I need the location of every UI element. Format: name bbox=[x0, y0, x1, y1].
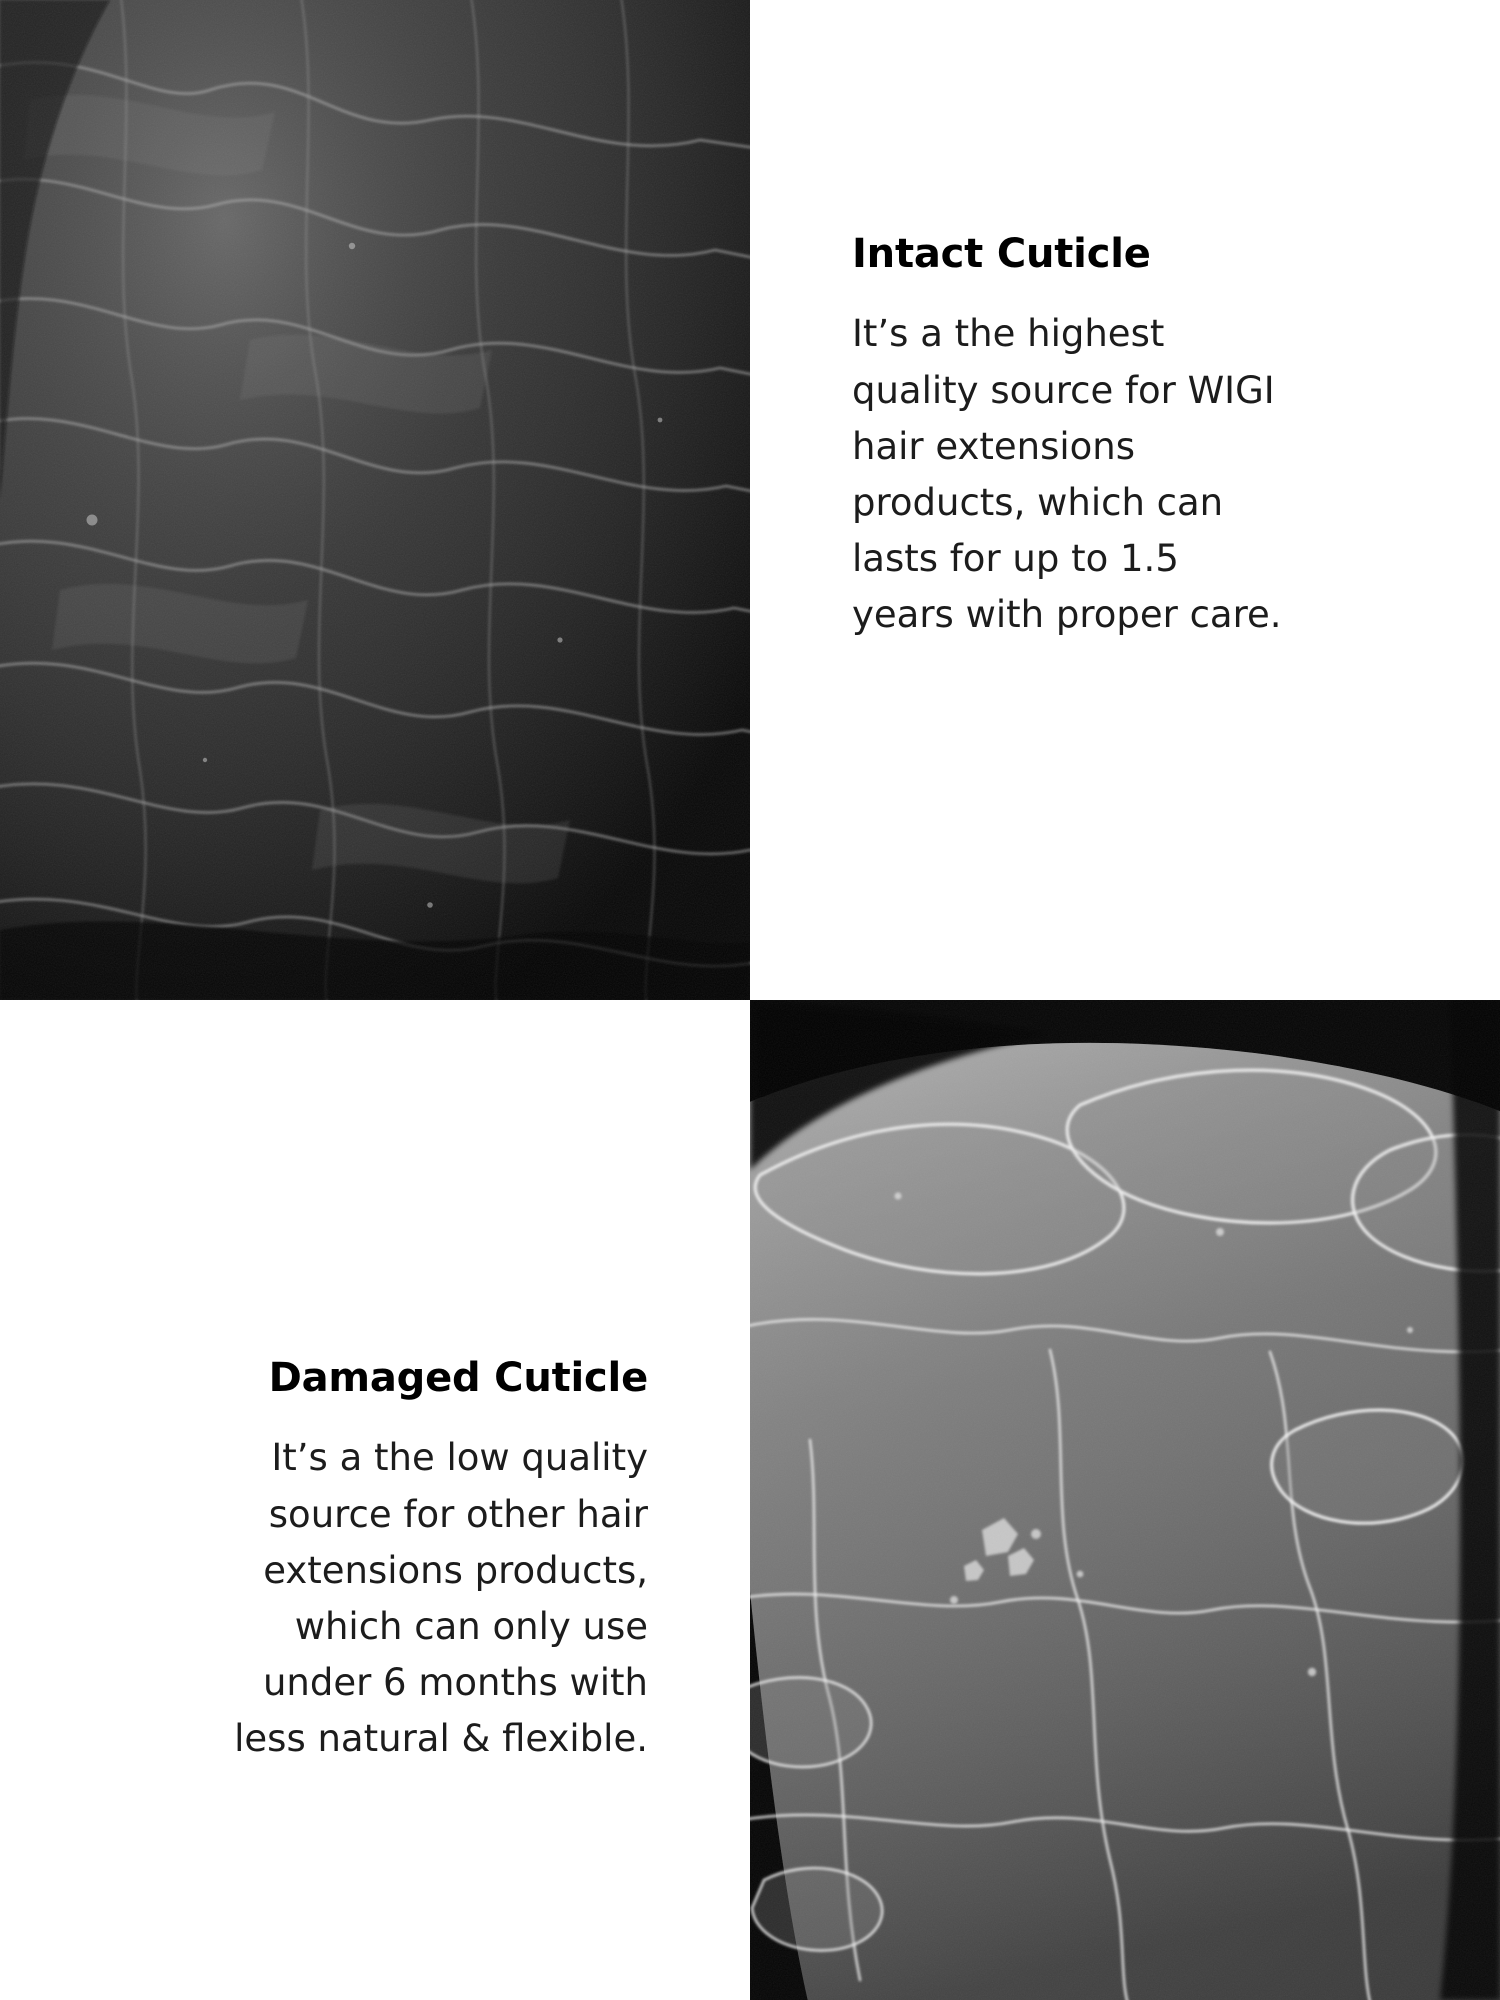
comparison-section-intact: Intact Cuticle It’s a the highest qualit… bbox=[0, 0, 1500, 1000]
intact-cuticle-title: Intact Cuticle bbox=[852, 232, 1292, 276]
damaged-cuticle-sem-micrograph bbox=[750, 1000, 1500, 2000]
intact-cuticle-description: It’s a the highest quality source for WI… bbox=[852, 306, 1292, 643]
damaged-cuticle-title: Damaged Cuticle bbox=[208, 1356, 648, 1400]
intact-cuticle-sem-micrograph bbox=[0, 0, 750, 1000]
damaged-cuticle-description: It’s a the low quality source for other … bbox=[208, 1430, 648, 1767]
damaged-cuticle-text-panel: Damaged Cuticle It’s a the low quality s… bbox=[0, 1000, 750, 2000]
cuticle-comparison-infographic: Intact Cuticle It’s a the highest qualit… bbox=[0, 0, 1500, 2000]
comparison-section-damaged: Damaged Cuticle It’s a the low quality s… bbox=[0, 1000, 1500, 2000]
intact-cuticle-text-panel: Intact Cuticle It’s a the highest qualit… bbox=[750, 0, 1500, 1000]
